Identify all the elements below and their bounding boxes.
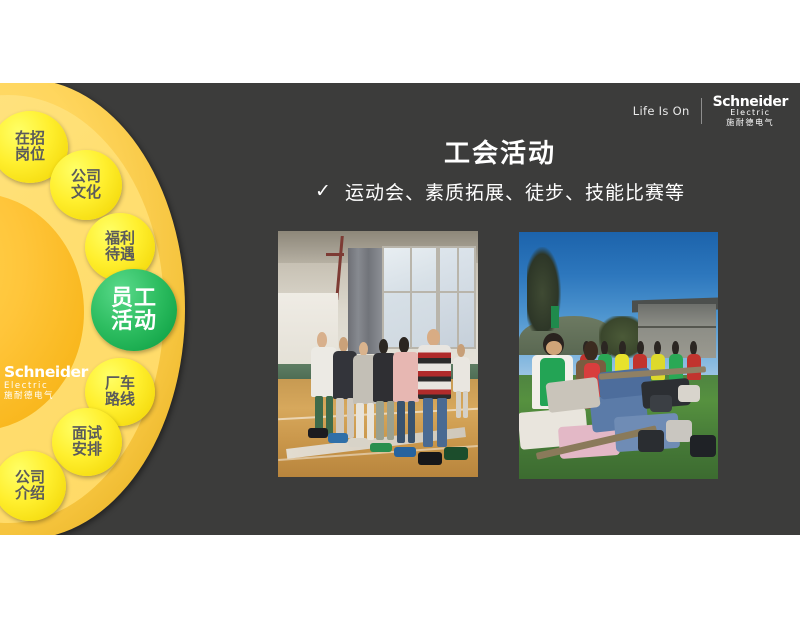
photo-outdoor-tugofwar <box>519 232 718 479</box>
wheel-bubble-employee-activities[interactable]: 员工 活动 <box>91 269 177 351</box>
life-is-on-tagline: Life Is On <box>633 104 690 118</box>
logo-sub: Electric <box>713 109 788 117</box>
navigation-wheel: Schneider Electric 施耐德电气 在招 岗位 公司 文化 福利 … <box>0 83 230 535</box>
wheel-logo-cn: 施耐德电气 <box>4 392 90 401</box>
bubble-line2: 待遇 <box>105 247 135 263</box>
brand-bar: Life Is On Schneider Electric 施耐德电气 <box>633 95 788 127</box>
slide-canvas: Schneider Electric 施耐德电气 在招 岗位 公司 文化 福利 … <box>0 83 800 535</box>
bubble-line2: 路线 <box>105 392 135 408</box>
bubble-line1: 员工 <box>111 287 157 310</box>
wheel-bubble-culture[interactable]: 公司 文化 <box>50 150 122 220</box>
bubble-line2: 介绍 <box>15 486 45 502</box>
wheel-center-logo: Schneider Electric 施耐德电气 <box>4 365 90 401</box>
wheel-bubble-interview[interactable]: 面试 安排 <box>52 408 122 476</box>
wheel-logo-sub: Electric <box>4 382 90 391</box>
page-title: 工会活动 <box>250 133 750 170</box>
bubble-line2: 岗位 <box>15 147 45 163</box>
wheel-logo-word: Schneider <box>4 365 90 381</box>
subtitle-text: 运动会、素质拓展、徒步、技能比赛等 <box>345 178 685 205</box>
bubble-line2: 安排 <box>72 442 102 458</box>
bubble-line2: 活动 <box>111 310 157 333</box>
logo-word: Schneider <box>713 95 788 109</box>
check-icon: ✓ <box>315 182 331 201</box>
brand-divider <box>701 98 702 124</box>
logo-cn: 施耐德电气 <box>713 119 788 127</box>
schneider-electric-logo: Schneider Electric 施耐德电气 <box>713 95 788 127</box>
bubble-line2: 文化 <box>71 185 101 201</box>
subtitle-row: ✓ 运动会、素质拓展、徒步、技能比赛等 <box>250 178 750 205</box>
slide-page: Schneider Electric 施耐德电气 在招 岗位 公司 文化 福利 … <box>0 0 800 618</box>
photo-indoor-teambuilding <box>278 231 478 477</box>
